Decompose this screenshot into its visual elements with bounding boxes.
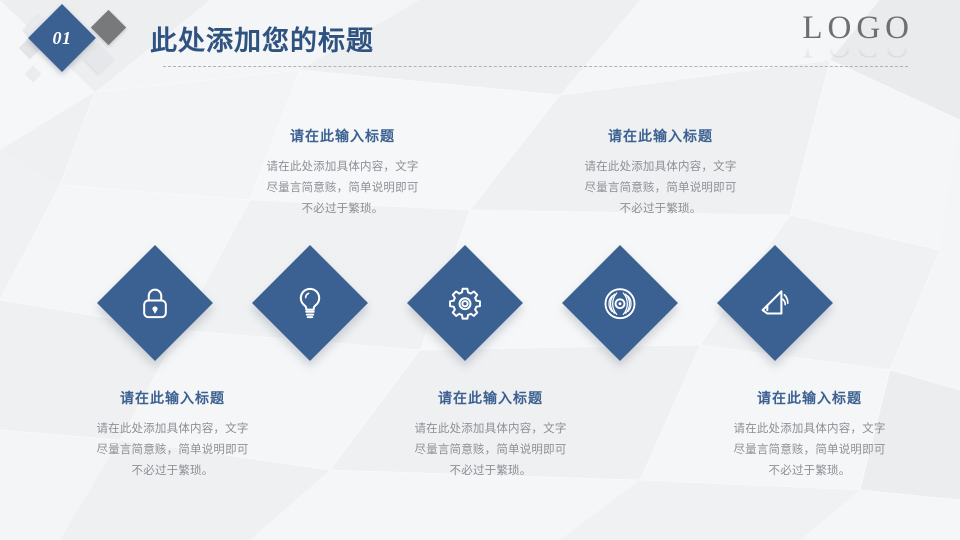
block-body-line: 尽量言简意赅，简单说明即可 [553,178,768,199]
content-block-top-left: 请在此输入标题 请在此处添加具体内容，文字 尽量言简意赅，简单说明即可 不必过于… [235,126,450,220]
content-block-bottom-left: 请在此输入标题 请在此处添加具体内容，文字 尽量言简意赅，简单说明即可 不必过于… [65,388,280,482]
block-body-line: 尽量言简意赅，简单说明即可 [383,440,598,461]
content-block-top-right: 请在此输入标题 请在此处添加具体内容，文字 尽量言简意赅，简单说明即可 不必过于… [553,126,768,220]
logo: LOGO LOGO [802,12,914,62]
block-body-line: 请在此处添加具体内容，文字 [235,157,450,178]
block-body-line: 请在此处添加具体内容，文字 [553,157,768,178]
block-body-line: 尽量言简意赅，简单说明即可 [702,440,917,461]
slide-header: 01 此处添加您的标题 LOGO LOGO [0,0,960,88]
header-diamond-cluster: 01 [0,0,160,110]
decor-diamond-light-3 [83,43,114,74]
block-body-line: 不必过于繁琐。 [702,461,917,482]
block-body: 请在此处添加具体内容，文字 尽量言简意赅，简单说明即可 不必过于繁琐。 [383,419,598,482]
block-body-line: 不必过于繁琐。 [383,461,598,482]
block-body-line: 不必过于繁琐。 [235,199,450,220]
block-body-line: 请在此处添加具体内容，文字 [702,419,917,440]
logo-text: LOGO [802,12,914,45]
block-body: 请在此处添加具体内容，文字 尽量言简意赅，简单说明即可 不必过于繁琐。 [553,157,768,220]
block-title: 请在此输入标题 [65,388,280,408]
block-body-line: 尽量言简意赅，简单说明即可 [65,440,280,461]
block-body: 请在此处添加具体内容，文字 尽量言简意赅，简单说明即可 不必过于繁琐。 [65,419,280,482]
block-title: 请在此输入标题 [235,126,450,146]
title-divider [163,66,908,67]
block-title: 请在此输入标题 [553,126,768,146]
content-block-bottom-center: 请在此输入标题 请在此处添加具体内容，文字 尽量言简意赅，简单说明即可 不必过于… [383,388,598,482]
decor-diamond-light-4 [25,66,42,83]
block-body-line: 不必过于繁琐。 [553,199,768,220]
block-title: 请在此输入标题 [383,388,598,408]
block-body-line: 不必过于繁琐。 [65,461,280,482]
block-title: 请在此输入标题 [702,388,917,408]
logo-reflection: LOGO [802,46,914,62]
block-body-line: 尽量言简意赅，简单说明即可 [235,178,450,199]
section-number-label: 01 [38,14,86,62]
decor-diamond-gray [91,10,126,45]
block-body: 请在此处添加具体内容，文字 尽量言简意赅，简单说明即可 不必过于繁琐。 [235,157,450,220]
block-body-line: 请在此处添加具体内容，文字 [383,419,598,440]
page-title: 此处添加您的标题 [150,19,374,58]
block-body-line: 请在此处添加具体内容，文字 [65,419,280,440]
block-body: 请在此处添加具体内容，文字 尽量言简意赅，简单说明即可 不必过于繁琐。 [702,419,917,482]
content-block-bottom-right: 请在此输入标题 请在此处添加具体内容，文字 尽量言简意赅，简单说明即可 不必过于… [702,388,917,482]
